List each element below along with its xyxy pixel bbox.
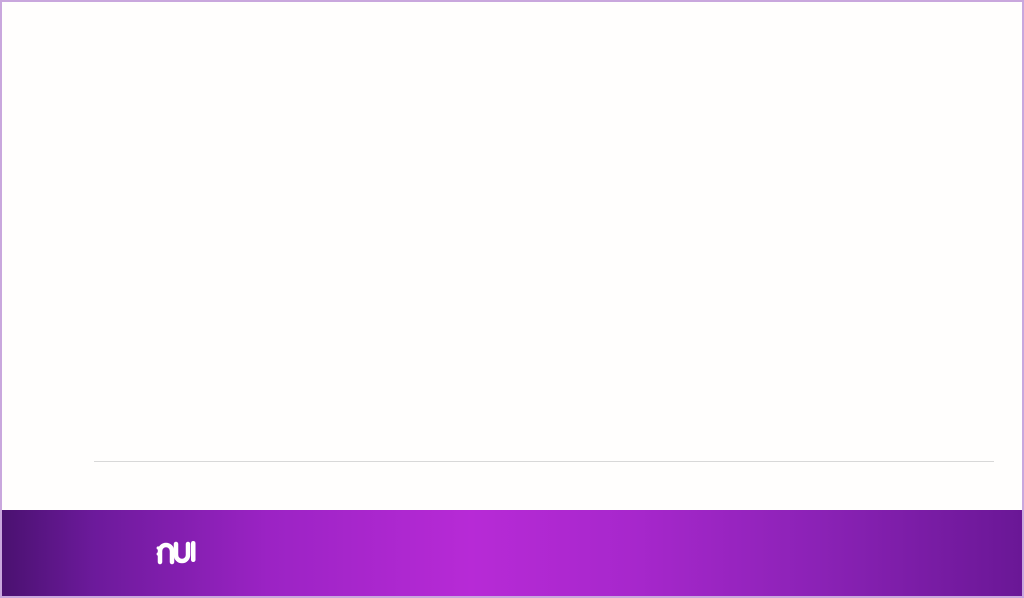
chart-infographic: [0, 0, 1024, 598]
legend-swatch-icon: [918, 33, 931, 46]
chart-area: [2, 2, 1022, 510]
plot-area: [94, 108, 994, 462]
footer-banner: [2, 510, 1022, 596]
legend-item-mercury-free[interactable]: [918, 14, 940, 27]
legend-swatch-icon: [918, 14, 931, 27]
bar-series: [94, 108, 994, 462]
legend-item-mercury-based[interactable]: [918, 33, 940, 46]
market-us-logo[interactable]: [156, 535, 206, 572]
market-us-mark-icon: [156, 535, 198, 572]
chart-legend: [918, 14, 940, 46]
